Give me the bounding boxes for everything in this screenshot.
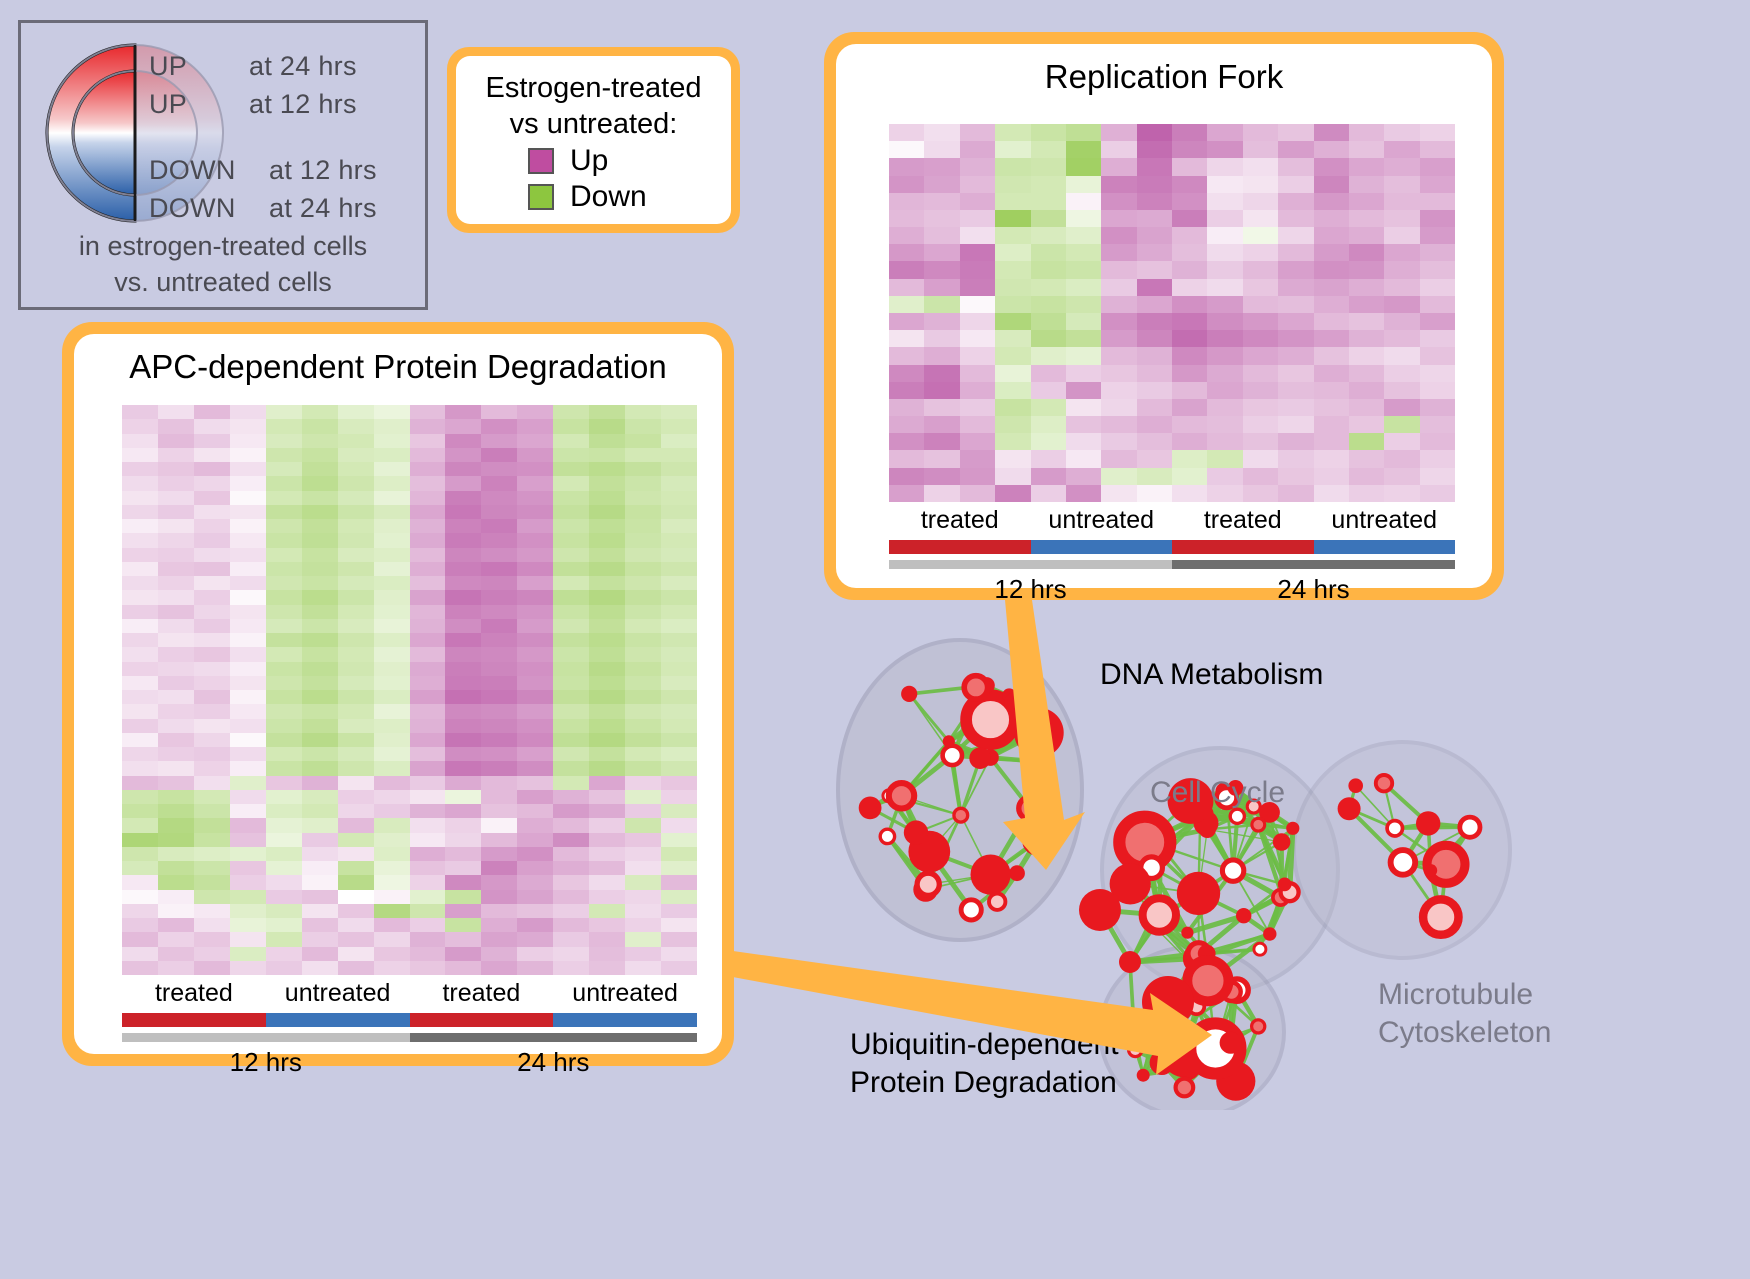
network-node[interactable] [1273,833,1291,851]
network-node[interactable] [969,747,991,769]
heatmap-cell [889,347,924,364]
heatmap-cell [1314,468,1349,485]
heatmap-cell [266,491,302,505]
heatmap-cell [924,261,959,278]
heatmap-cell [625,548,661,562]
heatmap-cell [1314,330,1349,347]
heatmap-cell [122,804,158,818]
network-node[interactable] [1079,889,1121,931]
network-node[interactable] [1278,878,1292,892]
heatmap-cell [960,313,995,330]
heatmap-cell [589,533,625,547]
heatmap-cell [517,818,553,832]
heatmap-cell [158,491,194,505]
network-node[interactable] [1387,821,1402,836]
heatmap-cell [158,875,194,889]
heatmap-cell [625,861,661,875]
network-node[interactable] [859,797,882,820]
heatmap-cell [517,918,553,932]
heatmap-cell [625,833,661,847]
network-node[interactable] [1222,860,1243,881]
heatmap-cell [625,776,661,790]
heatmap-cell [661,875,697,889]
heatmap-cell [194,804,230,818]
heatmap-cell [589,747,625,761]
network-node[interactable] [1137,1069,1150,1082]
heatmap-cell [374,861,410,875]
heatmap-cell [889,124,924,141]
heatmap-cell [960,433,995,450]
heatmap-cell [122,434,158,448]
heatmap-cell [230,605,266,619]
network-node[interactable] [961,900,981,920]
heatmap-cell [1243,141,1278,158]
heatmap-cell [924,382,959,399]
heatmap-cell [1349,468,1384,485]
heatmap-cell [374,690,410,704]
network-node[interactable] [1423,899,1458,934]
heatmap-cell [158,932,194,946]
network-node[interactable] [1004,693,1024,713]
network-node[interactable] [954,808,968,822]
network-node[interactable] [1348,778,1363,793]
heatmap-cell [589,405,625,419]
legend-circle-footer-line1: in estrogen-treated cells [21,228,425,264]
heatmap-cell [1420,450,1455,467]
heatmap-cell [960,279,995,296]
heatmap-cell [661,533,697,547]
heatmap-cell [1207,261,1242,278]
group-label-1: untreated [1031,506,1173,535]
heatmap-cell [1137,176,1172,193]
heatmap-cell [158,719,194,733]
heatmap-cell [445,405,481,419]
heatmap-cell [1101,141,1136,158]
group-bar-2 [1172,540,1314,554]
heatmap-cell [517,676,553,690]
heatmap-cell [230,419,266,433]
legend-circle-row-3-label: DOWN [149,193,236,224]
heatmap-cell [445,662,481,676]
network-node[interactable] [1129,1043,1142,1056]
heatmap-cell [302,704,338,718]
apc-group-labels: treateduntreatedtreateduntreated [122,979,697,1008]
heatmap-cell [410,690,446,704]
heatmap-cell [553,947,589,961]
heatmap-cell [481,462,517,476]
heatmap-cell [445,533,481,547]
heatmap-cell [302,847,338,861]
heatmap-cell [924,399,959,416]
heatmap-cell [1314,347,1349,364]
heatmap-cell [553,776,589,790]
heatmap-cell [158,790,194,804]
heatmap-cell [995,313,1030,330]
heatmap-cell [960,261,995,278]
heatmap-cell [302,491,338,505]
heatmap-cell [661,419,697,433]
heatmap-cell [194,647,230,661]
heatmap-cell [589,491,625,505]
network-node[interactable] [1177,872,1220,915]
heatmap-cell [1243,296,1278,313]
heatmap-cell [1349,279,1384,296]
heatmap-cell [924,227,959,244]
heatmap-cell [1420,279,1455,296]
replication-fork-time-colorbar [889,560,1455,569]
heatmap-cell [194,947,230,961]
heatmap-cell [1207,485,1242,502]
heatmap-cell [1207,227,1242,244]
heatmap-cell [517,419,553,433]
heatmap-cell [230,847,266,861]
network-node[interactable] [1220,1032,1242,1054]
heatmap-cell [1137,279,1172,296]
heatmap-cell [338,448,374,462]
heatmap-cell [302,533,338,547]
heatmap-cell [924,210,959,227]
heatmap-cell [158,676,194,690]
heatmap-cell [553,719,589,733]
heatmap-cell [924,124,959,141]
heatmap-cell [194,462,230,476]
network-node[interactable] [1460,817,1480,837]
heatmap-cell [266,419,302,433]
heatmap-cell [589,776,625,790]
network-node[interactable] [904,820,928,844]
heatmap-cell [1207,158,1242,175]
heatmap-cell [481,434,517,448]
network-node[interactable] [1376,775,1392,791]
heatmap-cell [194,776,230,790]
heatmap-cell [230,719,266,733]
heatmap-cell [1101,193,1136,210]
heatmap-cell [995,468,1030,485]
network-node[interactable] [1230,809,1244,823]
heatmap-cell [266,733,302,747]
heatmap-cell [1384,382,1419,399]
network-node[interactable] [901,686,917,702]
heatmap-cell [302,733,338,747]
heatmap-cell [374,448,410,462]
heatmap-cell [266,833,302,847]
heatmap-cell [374,733,410,747]
heatmap-cell [589,918,625,932]
network-node[interactable] [1017,729,1032,744]
network-node[interactable] [1254,943,1266,955]
heatmap-cell [1172,261,1207,278]
heatmap-cell [960,330,995,347]
heatmap-cell [122,890,158,904]
heatmap-cell [1207,382,1242,399]
heatmap-cell [553,918,589,932]
heatmap-cell [1101,124,1136,141]
heatmap-cell [1243,158,1278,175]
heatmap-cell [995,176,1030,193]
network-node[interactable] [1019,797,1041,819]
heatmap-cell [338,533,374,547]
heatmap-cell [1420,141,1455,158]
heatmap-cell [302,619,338,633]
heatmap-cell [661,491,697,505]
heatmap-cell [338,690,374,704]
heatmap-cell [338,562,374,576]
heatmap-cell [1384,296,1419,313]
heatmap-cell [661,676,697,690]
network-node[interactable] [1009,865,1025,881]
heatmap-cell [625,761,661,775]
heatmap-cell [1349,193,1384,210]
apc-group-colorbar [122,1013,697,1027]
heatmap-cell [1314,193,1349,210]
heatmap-cell [1420,124,1455,141]
heatmap-cell [445,847,481,861]
heatmap-cell [889,330,924,347]
heatmap-cell [410,904,446,918]
heatmap-cell [230,576,266,590]
heatmap-cell [1207,365,1242,382]
heatmap-cell [230,733,266,747]
heatmap-cell [158,662,194,676]
network-node[interactable] [1252,818,1265,831]
heatmap-cell [1349,347,1384,364]
heatmap-cell [889,141,924,158]
network-node[interactable] [1286,822,1299,835]
heatmap-cell [1314,244,1349,261]
network-node[interactable] [989,894,1005,910]
heatmap-cell [1101,330,1136,347]
heatmap-cell [1066,261,1101,278]
heatmap-cell [410,704,446,718]
heatmap-cell [194,847,230,861]
network-node[interactable] [943,735,955,747]
heatmap-cell [1031,244,1066,261]
network-node[interactable] [1176,1079,1194,1097]
network-node[interactable] [1181,927,1193,939]
network-node[interactable] [1236,908,1251,923]
heatmap-cell [517,533,553,547]
heatmap-cell [1420,227,1455,244]
heatmap-cell [410,790,446,804]
heatmap-cell [1207,176,1242,193]
heatmap-cell [960,399,995,416]
heatmap-cell [445,918,481,932]
heatmap-cell [302,904,338,918]
heatmap-cell [889,158,924,175]
heatmap-cell [625,747,661,761]
heatmap-cell [194,733,230,747]
heatmap-cell [1384,433,1419,450]
network-node[interactable] [1416,811,1440,835]
heatmap-cell [122,562,158,576]
heatmap-cell [410,818,446,832]
heatmap-cell [158,890,194,904]
heatmap-cell [960,227,995,244]
legend-circle-panel: UP at 24 hrs UP at 12 hrs DOWN at 12 hrs… [18,20,428,310]
heatmap-cell [517,904,553,918]
legend-circle-row-2-time: at 12 hrs [269,155,377,186]
heatmap-cell [338,804,374,818]
network-node[interactable] [1119,951,1141,973]
network-node[interactable] [1427,845,1465,883]
heatmap-cell [194,605,230,619]
heatmap-cell [410,633,446,647]
heatmap-cell [1066,279,1101,296]
network-node[interactable] [1025,829,1049,853]
heatmap-cell [1243,485,1278,502]
heatmap-cell [445,733,481,747]
heatmap-cell [625,719,661,733]
replication-fork-group-labels: treateduntreatedtreateduntreated [889,506,1455,535]
heatmap-cell [1384,141,1419,158]
network-node[interactable] [943,746,962,765]
heatmap-cell [1420,158,1455,175]
heatmap-cell [122,961,158,975]
heatmap-cell [194,590,230,604]
heatmap-cell [158,590,194,604]
heatmap-cell [374,605,410,619]
network-node[interactable] [1142,976,1194,1028]
heatmap-cell [194,932,230,946]
heatmap-cell [338,890,374,904]
heatmap-cell [338,590,374,604]
heatmap-cell [1243,124,1278,141]
heatmap-cell [122,533,158,547]
heatmap-cell [661,776,697,790]
heatmap-cell [1420,313,1455,330]
heatmap-cell [374,947,410,961]
heatmap-cell [410,619,446,633]
heatmap-cell [230,690,266,704]
heatmap-cell [517,434,553,448]
heatmap-cell [266,476,302,490]
heatmap-cell [589,619,625,633]
heatmap-cell [1137,365,1172,382]
heatmap-cell [625,904,661,918]
network-node[interactable] [1425,864,1438,877]
heatmap-cell [517,932,553,946]
heatmap-cell [1137,227,1172,244]
network-node[interactable] [889,783,914,808]
heatmap-cell [1101,399,1136,416]
heatmap-cell [158,833,194,847]
heatmap-cell [122,647,158,661]
heatmap-cell [1172,227,1207,244]
up-label: Up [570,144,608,178]
heatmap-cell [995,158,1030,175]
network-node[interactable] [1150,1050,1175,1075]
heatmap-cell [302,833,338,847]
network-node[interactable] [1187,960,1228,1001]
heatmap-cell [1278,227,1313,244]
heatmap-cell [410,448,446,462]
heatmap-cell [625,619,661,633]
heatmap-cell [194,761,230,775]
heatmap-cell [266,462,302,476]
heatmap-cell [338,904,374,918]
heatmap-cell [1243,468,1278,485]
heatmap-cell [230,662,266,676]
heatmap-cell [302,519,338,533]
network-node[interactable] [1338,797,1361,820]
heatmap-cell [553,619,589,633]
heatmap-cell [481,804,517,818]
heatmap-cell [374,719,410,733]
network-node[interactable] [880,829,894,843]
heatmap-cell [1066,210,1101,227]
heatmap-cell [1172,141,1207,158]
heatmap-cell [410,961,446,975]
heatmap-cell [230,676,266,690]
network-node[interactable] [917,873,939,895]
heatmap-cell [1384,330,1419,347]
heatmap-cell [1207,330,1242,347]
heatmap-cell [266,548,302,562]
time-label-0: 12 hrs [889,574,1172,605]
heatmap-cell [302,890,338,904]
network-node[interactable] [1252,1020,1265,1033]
heatmap-cell [1101,485,1136,502]
heatmap-cell [122,918,158,932]
heatmap-cell [1314,124,1349,141]
heatmap-cell [158,861,194,875]
heatmap-cell [517,761,553,775]
network-node[interactable] [1263,927,1276,940]
heatmap-cell [1349,176,1384,193]
heatmap-cell [889,399,924,416]
heatmap-cell [1031,279,1066,296]
heatmap-cell [338,790,374,804]
heatmap-cell [1172,330,1207,347]
heatmap-cell [960,382,995,399]
heatmap-cell [338,576,374,590]
heatmap-cell [158,818,194,832]
heatmap-cell [338,548,374,562]
heatmap-cell [517,733,553,747]
heatmap-cell [230,776,266,790]
network-node[interactable] [1143,898,1176,931]
heatmap-cell [194,562,230,576]
heatmap-cell [481,505,517,519]
heatmap-cell [589,662,625,676]
apc-degradation-heatmap [122,405,697,975]
heatmap-cell [374,434,410,448]
heatmap-cell [158,847,194,861]
heatmap-cell [374,576,410,590]
time-label-1: 24 hrs [410,1047,698,1078]
heatmap-cell [1031,382,1066,399]
network-node[interactable] [971,855,1011,895]
heatmap-cell [589,719,625,733]
heatmap-cell [1031,158,1066,175]
heatmap-cell [230,633,266,647]
cluster-label-microtubule-line1: Microtubule [1378,978,1533,1012]
heatmap-cell [445,619,481,633]
network-node[interactable] [1124,1015,1142,1033]
heatmap-cell [302,690,338,704]
heatmap-cell [122,733,158,747]
heatmap-cell [302,804,338,818]
heatmap-cell [553,790,589,804]
heatmap-cell [122,861,158,875]
heatmap-cell [374,476,410,490]
heatmap-cell [1384,313,1419,330]
pathway-network-diagram: DNA Metabolism Cell Cycle Microtubule Cy… [800,610,1580,1110]
heatmap-cell [1278,485,1313,502]
heatmap-cell [302,719,338,733]
network-node[interactable] [964,676,987,699]
network-node[interactable] [1391,850,1416,875]
